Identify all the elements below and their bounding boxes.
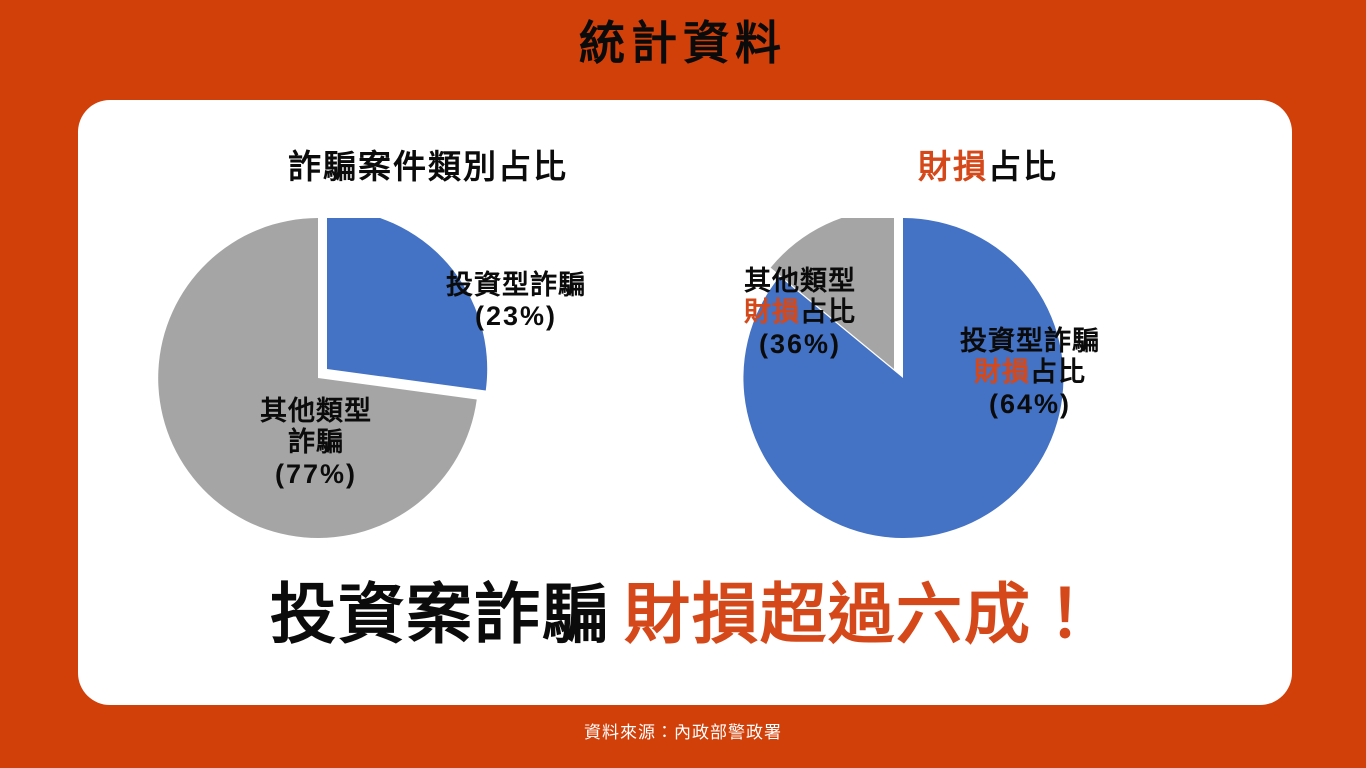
page-title: 統計資料	[0, 16, 1366, 71]
pie-label-invest64-highlight: 財損	[974, 357, 1030, 387]
pie-label-invest-text: 投資型詐騙	[446, 270, 586, 300]
chart-title-financial-loss-rest: 占比	[988, 148, 1058, 185]
pie-label-other-line1: 其他類型	[260, 396, 372, 426]
pie-label-other36-highlight: 財損	[744, 297, 800, 327]
pie-label-invest-23: 投資型詐騙 (23%)	[386, 270, 646, 333]
pie-label-other36-rest: 占比	[800, 297, 856, 327]
pie-label-other-77: 其他類型 詐騙 (77%)	[196, 396, 436, 490]
chart-title-financial-loss: 財損占比	[718, 140, 1258, 188]
source-citation: 資料來源：內政部警政署	[0, 718, 1366, 743]
chart-title-case-type: 詐騙案件類別占比	[158, 140, 698, 188]
pie-chart-case-type: 投資型詐騙 (23%) 其他類型 詐騙 (77%)	[158, 218, 698, 568]
chart-panel-financial-loss: 財損占比 其他類型 財損占比 (36%) 投資型詐騙 財損占比 (64%)	[718, 100, 1258, 570]
headline-orange-part: 財損超過六成！	[624, 577, 1100, 651]
pie-label-invest64-rest: 占比	[1030, 357, 1086, 387]
pie-label-other36-pct: (36%)	[759, 329, 841, 359]
pie-label-other36-line1: 其他類型	[744, 266, 856, 296]
content-card: 詐騙案件類別占比 投資型詐騙 (23%) 其他類型 詐騙 (77%) 財損占比	[78, 100, 1292, 705]
headline-black-part: 投資案詐騙	[270, 577, 610, 651]
chart-panel-case-type: 詐騙案件類別占比 投資型詐騙 (23%) 其他類型 詐騙 (77%)	[158, 100, 698, 570]
pie-label-invest-pct: (23%)	[475, 301, 557, 331]
headline-banner: 投資案詐騙財損超過六成！	[78, 578, 1292, 651]
pie-chart-financial-loss: 其他類型 財損占比 (36%) 投資型詐騙 財損占比 (64%)	[718, 218, 1258, 568]
pie-label-other-line2: 詐騙	[288, 427, 344, 457]
pie-label-invest64-line1: 投資型詐騙	[960, 326, 1100, 356]
pie-label-other-pct: (77%)	[275, 459, 357, 489]
pie-label-invest-64: 投資型詐騙 財損占比 (64%)	[890, 326, 1170, 420]
chart-title-financial-loss-highlight: 財損	[918, 148, 988, 185]
pie-label-invest64-pct: (64%)	[989, 389, 1071, 419]
